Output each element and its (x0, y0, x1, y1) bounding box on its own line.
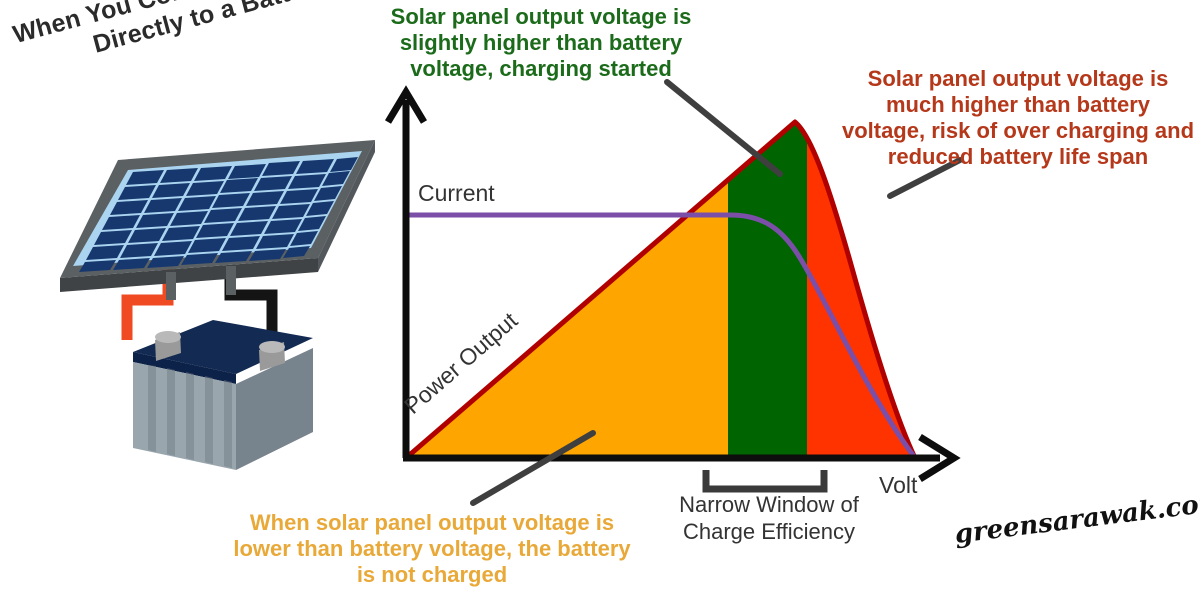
infographic-canvas: When You Connect a Solar PV Panel Direct… (0, 0, 1200, 596)
current-series-label: Current (418, 180, 495, 207)
annotation-over-charging: Solar panel output voltage is much highe… (838, 66, 1198, 170)
narrow-window-bracket (706, 470, 824, 489)
zone-charging (728, 100, 807, 460)
narrow-window-label: Narrow Window of Charge Efficiency (664, 492, 874, 546)
x-axis-label: Volt (879, 472, 917, 499)
leader-green (667, 82, 780, 174)
annotation-not-charged: When solar panel output voltage is lower… (222, 510, 642, 588)
annotation-charging-started: Solar panel output voltage is slightly h… (382, 4, 700, 82)
